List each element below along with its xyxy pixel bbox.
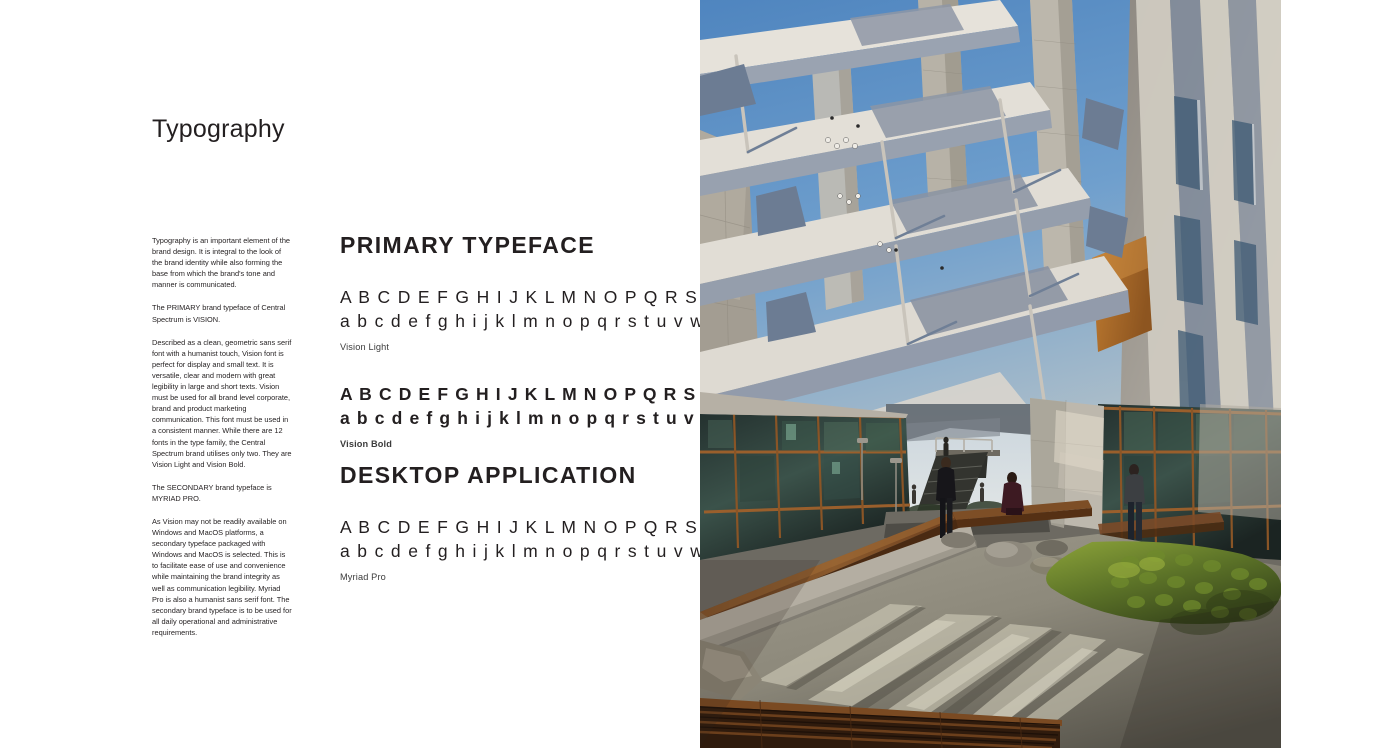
architecture-photograph bbox=[700, 0, 1281, 748]
body-text-column: Typography is an important element of th… bbox=[152, 235, 292, 638]
body-paragraph: Described as a clean, geometric sans ser… bbox=[152, 337, 292, 470]
body-paragraph: The PRIMARY brand typeface of Central Sp… bbox=[152, 302, 292, 324]
brand-guideline-page: Typography Typography is an important el… bbox=[0, 0, 1400, 748]
body-paragraph: The SECONDARY brand typeface is MYRIAD P… bbox=[152, 482, 292, 504]
body-paragraph: As Vision may not be readily available o… bbox=[152, 516, 292, 638]
body-paragraph: Typography is an important element of th… bbox=[152, 235, 292, 290]
page-title: Typography bbox=[152, 115, 285, 144]
photo-illustration bbox=[700, 0, 1281, 748]
